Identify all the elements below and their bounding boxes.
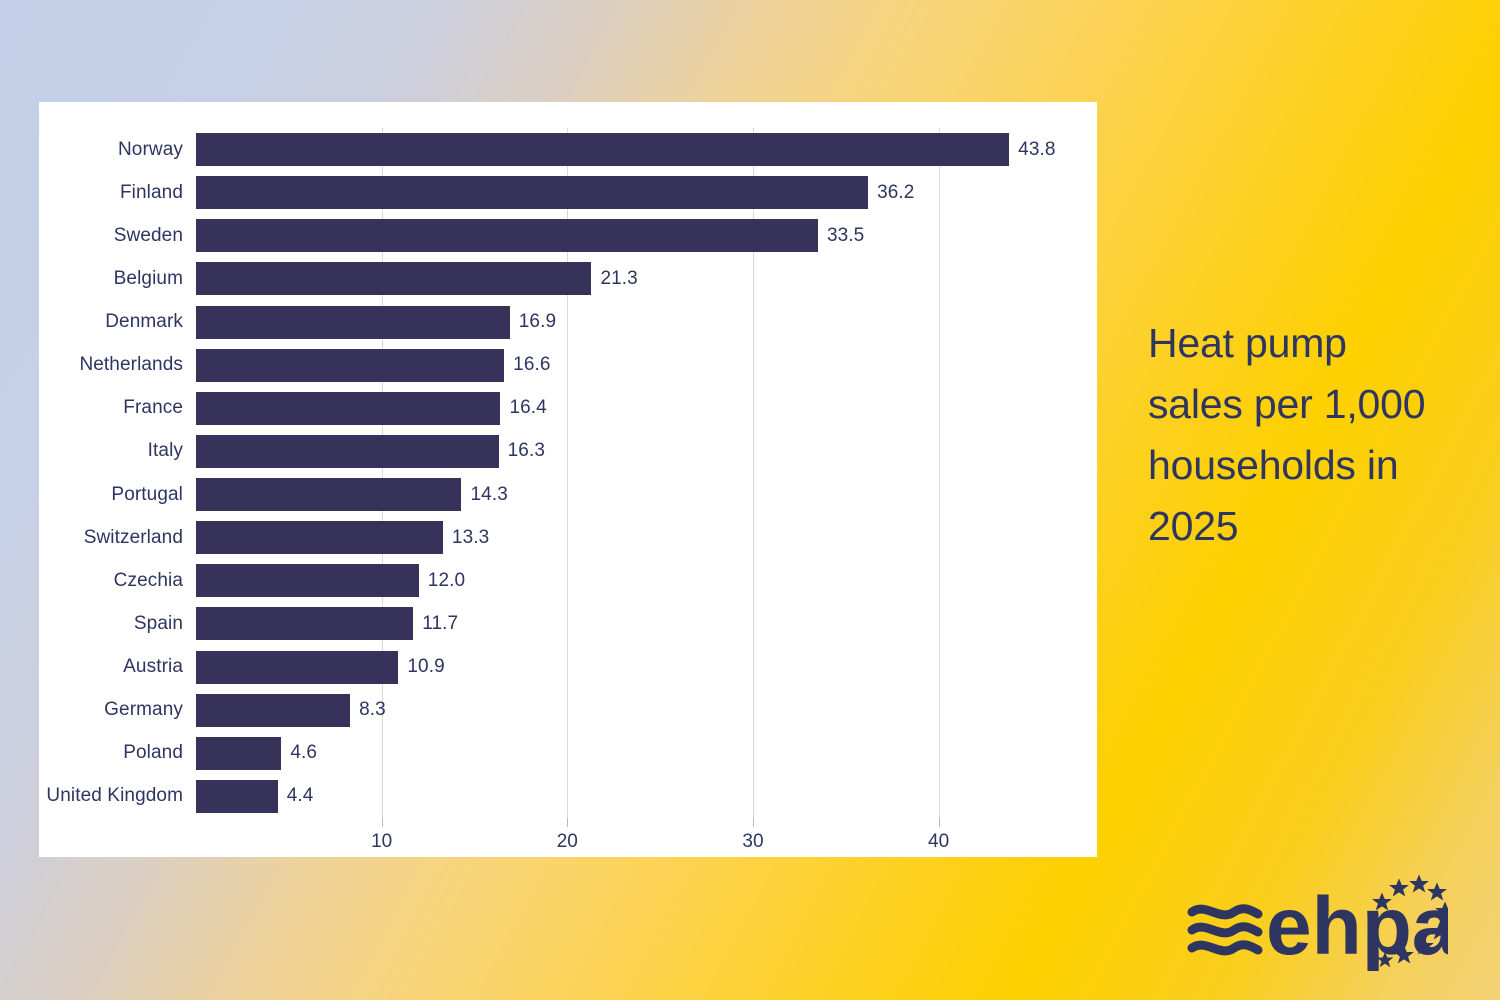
page-title: Heat pump sales per 1,000 households in … [1148, 313, 1468, 557]
category-label: France [123, 397, 183, 419]
bar-row[interactable]: Finland36.2 [196, 176, 1076, 209]
category-label: Belgium [114, 268, 183, 290]
bar-value-label: 21.3 [600, 268, 637, 290]
bar-row[interactable]: Spain11.7 [196, 607, 1076, 640]
bar-row[interactable]: Norway43.8 [196, 133, 1076, 166]
x-axis: 10203040 [196, 818, 1076, 858]
bar-value-label: 16.9 [519, 311, 556, 333]
bar[interactable] [196, 176, 868, 209]
bar[interactable] [196, 478, 461, 511]
bar[interactable] [196, 219, 818, 252]
bar-value-label: 4.6 [290, 742, 317, 764]
logo-wordmark: ehpa [1266, 881, 1448, 972]
x-tick-mark [382, 818, 383, 827]
bar-value-label: 14.3 [470, 484, 507, 506]
category-label: Portugal [111, 484, 183, 506]
x-tick-mark [753, 818, 754, 827]
plot-area: Norway43.8Finland36.2Sweden33.5Belgium21… [196, 128, 1076, 818]
bar[interactable] [196, 694, 350, 727]
bar-value-label: 36.2 [877, 182, 914, 204]
bar-row[interactable]: Germany8.3 [196, 694, 1076, 727]
bar[interactable] [196, 607, 413, 640]
bar-value-label: 8.3 [359, 699, 386, 721]
bar[interactable] [196, 392, 500, 425]
logo-waves [1192, 909, 1258, 951]
bar-value-label: 11.7 [422, 613, 458, 635]
category-label: Finland [120, 182, 183, 204]
category-label: Czechia [114, 570, 183, 592]
title-line-4: 2025 [1148, 496, 1468, 557]
bar-value-label: 4.4 [287, 785, 314, 807]
category-label: Austria [123, 656, 183, 678]
bar-value-label: 16.6 [513, 354, 550, 376]
category-label: United Kingdom [46, 785, 183, 807]
bar-row[interactable]: Italy16.3 [196, 435, 1076, 468]
x-tick-mark [939, 818, 940, 827]
bar-value-label: 16.4 [509, 397, 546, 419]
bar[interactable] [196, 564, 419, 597]
bar-value-label: 33.5 [827, 225, 864, 247]
category-label: Spain [134, 613, 183, 635]
bar-row[interactable]: Austria10.9 [196, 651, 1076, 684]
category-label: Italy [148, 440, 183, 462]
bar-row[interactable]: Netherlands16.6 [196, 349, 1076, 382]
title-line-3: households in [1148, 435, 1468, 496]
x-tick-label: 30 [742, 831, 763, 853]
bar[interactable] [196, 780, 278, 813]
x-tick-label: 40 [928, 831, 949, 853]
bar-row[interactable]: Sweden33.5 [196, 219, 1076, 252]
poster-canvas: Norway43.8Finland36.2Sweden33.5Belgium21… [0, 0, 1500, 1000]
bar-rows: Norway43.8Finland36.2Sweden33.5Belgium21… [196, 128, 1076, 818]
bar-row[interactable]: Switzerland13.3 [196, 521, 1076, 554]
bar[interactable] [196, 435, 499, 468]
bar-row[interactable]: United Kingdom4.4 [196, 780, 1076, 813]
bar-row[interactable]: Poland4.6 [196, 737, 1076, 770]
x-tick-mark [567, 818, 568, 827]
category-label: Denmark [105, 311, 183, 333]
bar-value-label: 12.0 [428, 570, 465, 592]
bar[interactable] [196, 651, 398, 684]
bar-value-label: 10.9 [407, 656, 444, 678]
category-label: Germany [104, 699, 183, 721]
bar-row[interactable]: Czechia12.0 [196, 564, 1076, 597]
bar-value-label: 43.8 [1018, 139, 1055, 161]
bar-value-label: 13.3 [452, 527, 489, 549]
x-tick-label: 10 [371, 831, 392, 853]
ehpa-logo: ehpa [1186, 868, 1448, 976]
chart-card: Norway43.8Finland36.2Sweden33.5Belgium21… [39, 102, 1097, 857]
bar[interactable] [196, 262, 591, 295]
bar-row[interactable]: Denmark16.9 [196, 306, 1076, 339]
x-tick-label: 20 [557, 831, 578, 853]
bar[interactable] [196, 737, 281, 770]
category-label: Switzerland [84, 527, 183, 549]
bar[interactable] [196, 133, 1009, 166]
bar-row[interactable]: Portugal14.3 [196, 478, 1076, 511]
bar-value-label: 16.3 [508, 440, 545, 462]
bar-row[interactable]: Belgium21.3 [196, 262, 1076, 295]
bar[interactable] [196, 306, 510, 339]
category-label: Norway [118, 139, 183, 161]
title-line-2: sales per 1,000 [1148, 374, 1468, 435]
bar-row[interactable]: France16.4 [196, 392, 1076, 425]
bar[interactable] [196, 349, 504, 382]
category-label: Netherlands [79, 354, 183, 376]
bar[interactable] [196, 521, 443, 554]
category-label: Sweden [114, 225, 183, 247]
category-label: Poland [123, 742, 183, 764]
title-line-1: Heat pump [1148, 313, 1468, 374]
